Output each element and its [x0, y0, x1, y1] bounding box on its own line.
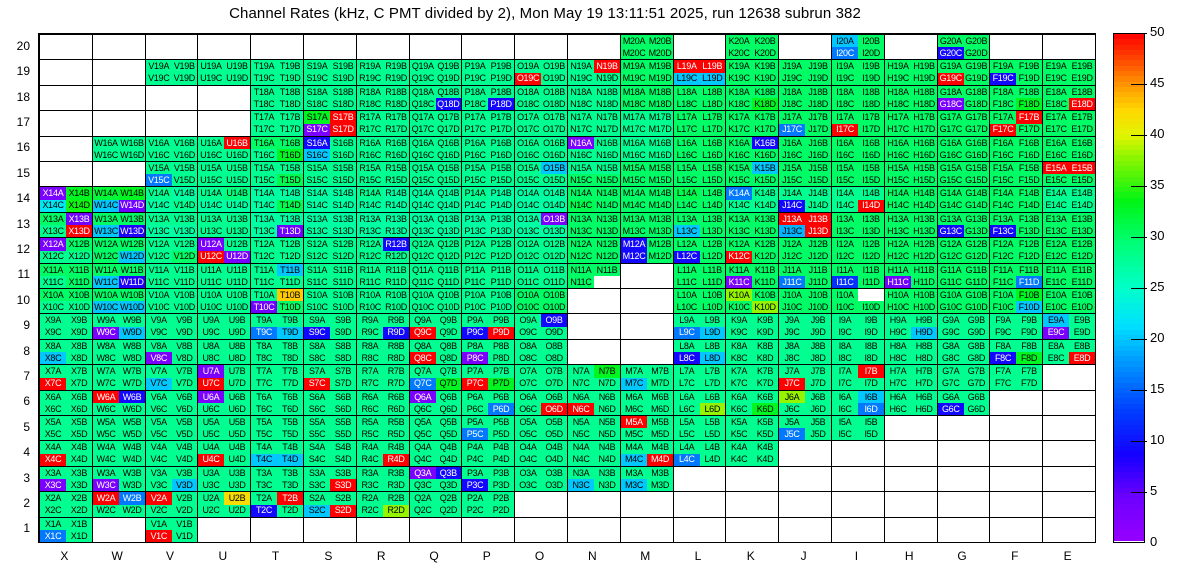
- channel-subcell[interactable]: O4B: [541, 441, 567, 454]
- channel-subcell[interactable]: W16A: [93, 137, 119, 149]
- channel-subcell[interactable]: L19B: [700, 60, 726, 73]
- channel-subcell[interactable]: T3A: [251, 467, 277, 479]
- channel-subcell[interactable]: Q12B: [436, 238, 462, 251]
- channel-subcell[interactable]: S9A: [304, 314, 330, 327]
- channel-subcell[interactable]: R14A: [357, 187, 383, 200]
- channel-subcell[interactable]: U2D: [224, 505, 250, 518]
- channel-subcell[interactable]: R5C: [357, 428, 383, 440]
- detector-cell[interactable]: R11AR11BR11CR11D: [357, 264, 409, 288]
- channel-subcell[interactable]: H10B: [911, 289, 937, 301]
- channel-subcell[interactable]: I19A: [832, 60, 858, 73]
- channel-subcell[interactable]: X9A: [40, 314, 66, 327]
- channel-subcell[interactable]: W12C: [93, 251, 119, 264]
- channel-subcell[interactable]: O17C: [515, 124, 541, 137]
- channel-subcell[interactable]: U7C: [198, 378, 224, 391]
- detector-cell[interactable]: R13AR13BR13CR13D: [357, 213, 409, 237]
- channel-subcell[interactable]: K18A: [726, 86, 752, 98]
- channel-subcell[interactable]: P2A: [462, 492, 488, 505]
- channel-subcell[interactable]: N7B: [594, 365, 620, 378]
- channel-subcell[interactable]: T16B: [277, 137, 303, 149]
- channel-subcell[interactable]: Q13A: [410, 213, 436, 225]
- channel-subcell[interactable]: S8C: [304, 352, 330, 364]
- channel-subcell[interactable]: G11A: [938, 264, 964, 276]
- detector-cell[interactable]: K11AK11BK11CK11D: [726, 264, 778, 288]
- channel-subcell[interactable]: T18D: [277, 98, 303, 110]
- channel-subcell[interactable]: H12C: [885, 251, 911, 264]
- detector-cell[interactable]: F16AF16BF16CF16D: [990, 137, 1042, 161]
- channel-subcell[interactable]: T2C: [251, 505, 277, 518]
- detector-cell[interactable]: J19AJ19BJ19CJ19D: [779, 60, 831, 85]
- channel-subcell[interactable]: X13C: [40, 225, 66, 237]
- channel-subcell[interactable]: Q14A: [410, 187, 436, 200]
- detector-cell[interactable]: S4AS4BS4CS4D: [304, 441, 356, 466]
- channel-subcell[interactable]: H17B: [911, 111, 937, 124]
- detector-cell[interactable]: Q5AQ5BQ5CQ5D: [410, 416, 461, 440]
- channel-subcell[interactable]: O17A: [515, 111, 541, 124]
- channel-subcell[interactable]: G16A: [938, 137, 964, 149]
- channel-subcell[interactable]: V11C: [146, 276, 172, 288]
- channel-subcell[interactable]: F13D: [1016, 225, 1042, 237]
- channel-subcell[interactable]: U15D: [224, 174, 250, 186]
- channel-subcell[interactable]: N3C: [568, 479, 594, 491]
- channel-subcell[interactable]: R16C: [357, 149, 383, 161]
- channel-subcell[interactable]: K15C: [726, 174, 752, 186]
- channel-subcell[interactable]: X10A: [40, 289, 66, 301]
- channel-subcell[interactable]: S14C: [304, 200, 330, 213]
- channel-subcell[interactable]: R13A: [357, 213, 383, 225]
- detector-cell[interactable]: K20AK20BK20CK20D: [726, 35, 778, 59]
- channel-subcell[interactable]: X14D: [66, 200, 92, 213]
- channel-subcell[interactable]: S18D: [330, 98, 356, 110]
- channel-subcell[interactable]: K19B: [752, 60, 778, 73]
- channel-subcell[interactable]: S2B: [330, 492, 356, 505]
- channel-subcell[interactable]: P15B: [488, 162, 514, 174]
- detector-cell[interactable]: R10AR10BR10CR10D: [357, 289, 409, 313]
- channel-subcell[interactable]: W9B: [119, 314, 145, 327]
- channel-subcell[interactable]: L13C: [674, 225, 700, 237]
- channel-subcell[interactable]: U14B: [224, 187, 250, 200]
- detector-cell[interactable]: S2AS2BS2CS2D: [304, 492, 356, 517]
- detector-cell[interactable]: V9AV9BV9CV9D: [146, 314, 197, 339]
- detector-cell[interactable]: L5AL5BL5CL5D: [674, 416, 725, 440]
- channel-subcell[interactable]: V12A: [146, 238, 172, 251]
- channel-subcell[interactable]: G18A: [938, 86, 964, 98]
- detector-cell[interactable]: G10AG10BG10CG10D: [938, 289, 989, 313]
- channel-subcell[interactable]: P19C: [462, 73, 488, 86]
- channel-subcell[interactable]: O3A: [515, 467, 541, 479]
- channel-subcell[interactable]: R5A: [357, 416, 383, 428]
- channel-subcell[interactable]: R4D: [383, 454, 409, 467]
- channel-subcell[interactable]: Q9B: [436, 314, 462, 327]
- channel-subcell[interactable]: P11D: [488, 276, 514, 288]
- channel-subcell[interactable]: I17A: [832, 111, 858, 124]
- channel-subcell[interactable]: S8D: [330, 352, 356, 364]
- channel-subcell[interactable]: E14B: [1069, 187, 1095, 200]
- channel-subcell[interactable]: Q11A: [410, 264, 436, 276]
- channel-subcell[interactable]: O3C: [515, 479, 541, 491]
- channel-subcell[interactable]: P2D: [488, 505, 514, 518]
- detector-cell[interactable]: W5AW5BW5CW5D: [93, 416, 145, 440]
- channel-subcell[interactable]: W10C: [93, 301, 119, 313]
- channel-subcell[interactable]: E13B: [1069, 213, 1095, 225]
- channel-subcell[interactable]: K11D: [752, 276, 778, 288]
- channel-subcell[interactable]: U13C: [198, 225, 224, 237]
- detector-cell[interactable]: G20AG20BG20CG20D: [938, 35, 989, 59]
- channel-subcell[interactable]: F14A: [990, 187, 1016, 200]
- channel-subcell[interactable]: U9D: [224, 327, 250, 340]
- detector-cell[interactable]: V10AV10BV10CV10D: [146, 289, 197, 313]
- channel-subcell[interactable]: R15B: [383, 162, 409, 174]
- channel-subcell[interactable]: S12C: [304, 251, 330, 264]
- detector-cell[interactable]: F13AF13BF13CF13D: [990, 213, 1042, 237]
- channel-subcell[interactable]: K5D: [752, 428, 778, 440]
- channel-subcell[interactable]: P18A: [462, 86, 488, 98]
- channel-subcell[interactable]: I7B: [858, 365, 884, 378]
- detector-cell[interactable]: L12AL12BL12CL12D: [674, 238, 725, 263]
- channel-subcell[interactable]: P9A: [462, 314, 488, 327]
- channel-subcell[interactable]: J18C: [779, 98, 805, 110]
- detector-cell[interactable]: N3AN3BN3CN3D: [568, 467, 620, 491]
- channel-subcell[interactable]: L7B: [700, 365, 726, 378]
- channel-subcell[interactable]: T3B: [277, 467, 303, 479]
- channel-subcell[interactable]: R11A: [357, 264, 383, 276]
- detector-cell[interactable]: U9AU9BU9CU9D: [198, 314, 250, 339]
- channel-subcell[interactable]: M18C: [621, 98, 647, 110]
- channel-subcell[interactable]: H17C: [885, 124, 911, 137]
- channel-subcell[interactable]: X7B: [66, 365, 92, 378]
- channel-subcell[interactable]: P4B: [488, 441, 514, 454]
- channel-subcell[interactable]: U4B: [224, 441, 250, 454]
- detector-cell[interactable]: O8AO8BO8CO8D: [515, 340, 567, 364]
- channel-subcell[interactable]: N4A: [568, 441, 594, 454]
- channel-subcell[interactable]: F19C: [990, 73, 1016, 86]
- channel-subcell[interactable]: J9A: [779, 314, 805, 327]
- channel-subcell[interactable]: N16D: [594, 149, 620, 161]
- channel-subcell[interactable]: K18B: [752, 86, 778, 98]
- channel-subcell[interactable]: S18A: [304, 86, 330, 98]
- detector-cell[interactable]: S16AS16BS16CS16D: [304, 137, 356, 161]
- detector-cell[interactable]: P8AP8BP8CP8D: [462, 340, 514, 364]
- detector-cell[interactable]: Q16AQ16BQ16CQ16D: [410, 137, 461, 161]
- channel-subcell[interactable]: M12A: [621, 238, 647, 251]
- detector-cell[interactable]: Q11AQ11BQ11CQ11D: [410, 264, 461, 288]
- detector-cell[interactable]: S15AS15BS15CS15D: [304, 162, 356, 186]
- detector-cell[interactable]: T18AT18BT18CT18D: [251, 86, 303, 110]
- channel-subcell[interactable]: M17B: [647, 111, 673, 124]
- channel-subcell[interactable]: Q14B: [436, 187, 462, 200]
- detector-cell[interactable]: J11AJ11BJ11CJ11D: [779, 264, 831, 288]
- detector-cell[interactable]: T5AT5BT5CT5D: [251, 416, 303, 440]
- channel-subcell[interactable]: N4C: [568, 454, 594, 467]
- channel-subcell[interactable]: M16B: [647, 137, 673, 149]
- channel-subcell[interactable]: X10C: [40, 301, 66, 313]
- channel-subcell[interactable]: Q2D: [436, 505, 462, 518]
- channel-subcell[interactable]: T6D: [277, 403, 303, 415]
- channel-subcell[interactable]: P2B: [488, 492, 514, 505]
- channel-subcell[interactable]: Q2C: [410, 505, 436, 518]
- channel-subcell[interactable]: U11B: [224, 264, 250, 276]
- channel-subcell[interactable]: V5A: [146, 416, 172, 428]
- channel-subcell[interactable]: N5B: [594, 416, 620, 428]
- channel-subcell[interactable]: H19B: [911, 60, 937, 73]
- channel-subcell[interactable]: R9D: [383, 327, 409, 340]
- detector-cell[interactable]: I5AI5BI5CI5D: [832, 416, 884, 440]
- channel-subcell[interactable]: P17B: [488, 111, 514, 124]
- channel-subcell[interactable]: L17B: [700, 111, 726, 124]
- detector-cell[interactable]: W3AW3BW3CW3D: [93, 467, 145, 491]
- detector-cell[interactable]: M6AM6BM6CM6D: [621, 391, 673, 415]
- detector-cell[interactable]: O9AO9BO9CO9D: [515, 314, 567, 339]
- channel-subcell[interactable]: S7C: [304, 378, 330, 391]
- detector-cell[interactable]: V13AV13BV13CV13D: [146, 213, 197, 237]
- channel-subcell[interactable]: J8D: [805, 352, 831, 364]
- channel-subcell[interactable]: T8D: [277, 352, 303, 364]
- detector-cell[interactable]: U8AU8BU8CU8D: [198, 340, 250, 364]
- channel-subcell[interactable]: M7B: [647, 365, 673, 378]
- channel-subcell[interactable]: O4D: [541, 454, 567, 467]
- detector-cell[interactable]: M13AM13BM13CM13D: [621, 213, 673, 237]
- channel-subcell[interactable]: N15D: [594, 174, 620, 186]
- channel-subcell[interactable]: R5B: [383, 416, 409, 428]
- channel-subcell[interactable]: Q17C: [410, 124, 436, 137]
- detector-cell[interactable]: X9AX9BX9CX9D: [40, 314, 92, 339]
- channel-subcell[interactable]: N17B: [594, 111, 620, 124]
- channel-subcell[interactable]: S16B: [330, 137, 356, 149]
- channel-subcell[interactable]: P5C: [462, 428, 488, 440]
- channel-subcell[interactable]: H7D: [911, 378, 937, 391]
- channel-subcell[interactable]: T7C: [251, 378, 277, 391]
- channel-subcell[interactable]: W3D: [119, 479, 145, 491]
- channel-subcell[interactable]: T15C: [251, 174, 277, 186]
- channel-subcell[interactable]: P9C: [462, 327, 488, 340]
- channel-subcell[interactable]: O8A: [515, 340, 541, 352]
- detector-cell[interactable]: X2AX2BX2CX2D: [40, 492, 92, 517]
- channel-subcell[interactable]: T11D: [277, 276, 303, 288]
- channel-subcell[interactable]: L9C: [674, 327, 700, 340]
- channel-subcell[interactable]: W13C: [93, 225, 119, 237]
- channel-subcell[interactable]: P18B: [488, 86, 514, 98]
- channel-subcell[interactable]: I18B: [858, 86, 884, 98]
- channel-subcell[interactable]: U12A: [198, 238, 224, 251]
- channel-subcell[interactable]: Q13C: [410, 225, 436, 237]
- channel-subcell[interactable]: K7C: [726, 378, 752, 391]
- channel-subcell[interactable]: H7A: [885, 365, 911, 378]
- channel-subcell[interactable]: U8C: [198, 352, 224, 364]
- detector-cell[interactable]: K18AK18BK18CK18D: [726, 86, 778, 110]
- channel-subcell[interactable]: P19A: [462, 60, 488, 73]
- channel-subcell[interactable]: J12D: [805, 251, 831, 264]
- channel-subcell[interactable]: M19C: [621, 73, 647, 86]
- channel-subcell[interactable]: X4C: [40, 454, 66, 467]
- detector-cell[interactable]: W14AW14BW14CW14D: [93, 187, 145, 212]
- detector-cell[interactable]: G19AG19BG19CG19D: [938, 60, 989, 85]
- channel-subcell[interactable]: F14C: [990, 200, 1016, 213]
- channel-subcell[interactable]: X14A: [40, 187, 66, 200]
- channel-subcell[interactable]: S10B: [330, 289, 356, 301]
- channel-subcell[interactable]: X11C: [40, 276, 66, 288]
- channel-subcell[interactable]: U9C: [198, 327, 224, 340]
- channel-subcell[interactable]: G18B: [964, 86, 990, 98]
- detector-cell[interactable]: W9AW9BW9CW9D: [93, 314, 145, 339]
- channel-subcell[interactable]: L8C: [674, 352, 700, 364]
- channel-subcell[interactable]: X1B: [66, 518, 92, 530]
- channel-subcell[interactable]: X7D: [66, 378, 92, 391]
- channel-subcell[interactable]: E16C: [1043, 149, 1069, 161]
- detector-cell[interactable]: W11AW11BW11CW11D: [93, 264, 145, 288]
- detector-cell[interactable]: E13AE13BE13CE13D: [1043, 213, 1095, 237]
- channel-subcell[interactable]: N14C: [568, 200, 594, 213]
- detector-cell[interactable]: P12AP12BP12CP12D: [462, 238, 514, 263]
- channel-subcell[interactable]: I19C: [832, 73, 858, 86]
- channel-subcell[interactable]: G10B: [964, 289, 990, 301]
- channel-subcell[interactable]: J19B: [805, 60, 831, 73]
- channel-subcell[interactable]: V16C: [146, 149, 172, 161]
- detector-cell[interactable]: X8AX8BX8CX8D: [40, 340, 92, 364]
- channel-subcell[interactable]: O5A: [515, 416, 541, 428]
- channel-subcell[interactable]: P13B: [488, 213, 514, 225]
- channel-subcell[interactable]: S16D: [330, 149, 356, 161]
- channel-subcell[interactable]: L5C: [674, 428, 700, 440]
- channel-subcell[interactable]: M7D: [647, 378, 673, 391]
- channel-subcell[interactable]: R10B: [383, 289, 409, 301]
- channel-subcell[interactable]: K7A: [726, 365, 752, 378]
- channel-subcell[interactable]: H17D: [911, 124, 937, 137]
- detector-cell[interactable]: K8AK8BK8CK8D: [726, 340, 778, 364]
- channel-subcell[interactable]: M19A: [621, 60, 647, 73]
- detector-cell[interactable]: T11AT11BT11CT11D: [251, 264, 303, 288]
- detector-cell[interactable]: T10AT10BT10CT10D: [251, 289, 303, 313]
- channel-subcell[interactable]: X5A: [40, 416, 66, 428]
- channel-subcell[interactable]: Q15B: [436, 162, 462, 174]
- channel-subcell[interactable]: I16A: [832, 137, 858, 149]
- channel-subcell[interactable]: X13A: [40, 213, 66, 225]
- channel-subcell[interactable]: L13B: [700, 213, 726, 225]
- channel-subcell[interactable]: Q4B: [436, 441, 462, 454]
- channel-subcell[interactable]: R7B: [383, 365, 409, 378]
- detector-cell[interactable]: N16AN16BN16CN16D: [568, 137, 620, 161]
- channel-subcell[interactable]: T13D: [277, 225, 303, 237]
- detector-cell[interactable]: R18AR18BR18CR18D: [357, 86, 409, 110]
- detector-cell[interactable]: M20AM20BM20CM20D: [621, 35, 673, 59]
- channel-subcell[interactable]: L16C: [674, 149, 700, 161]
- channel-subcell[interactable]: S7B: [330, 365, 356, 378]
- channel-subcell[interactable]: W11D: [119, 276, 145, 288]
- channel-subcell[interactable]: G19A: [938, 60, 964, 73]
- channel-subcell[interactable]: M15C: [621, 174, 647, 186]
- channel-subcell[interactable]: L10A: [674, 289, 700, 301]
- channel-subcell[interactable]: G6D: [964, 403, 990, 415]
- detector-cell[interactable]: L17AL17BL17CL17D: [674, 111, 725, 136]
- channel-subcell[interactable]: H18A: [885, 86, 911, 98]
- detector-cell[interactable]: H6AH6BH6CH6D: [885, 391, 937, 415]
- channel-subcell[interactable]: V1B: [172, 518, 198, 530]
- channel-subcell[interactable]: N6B: [594, 391, 620, 403]
- channel-subcell[interactable]: I10C: [832, 301, 858, 313]
- channel-subcell[interactable]: N4D: [594, 454, 620, 467]
- detector-cell[interactable]: J7AJ7BJ7CJ7D: [779, 365, 831, 390]
- channel-subcell[interactable]: J11C: [779, 276, 805, 288]
- channel-subcell[interactable]: J18B: [805, 86, 831, 98]
- channel-subcell[interactable]: S5C: [304, 428, 330, 440]
- channel-subcell[interactable]: H9A: [885, 314, 911, 327]
- channel-subcell[interactable]: S14D: [330, 200, 356, 213]
- channel-subcell[interactable]: T5D: [277, 428, 303, 440]
- detector-cell[interactable]: T16AT16BT16CT16D: [251, 137, 303, 161]
- detector-cell[interactable]: H10AH10BH10CH10D: [885, 289, 937, 313]
- channel-subcell[interactable]: Q6B: [436, 391, 462, 403]
- channel-subcell[interactable]: P14C: [462, 200, 488, 213]
- channel-subcell[interactable]: H14D: [911, 200, 937, 213]
- detector-cell[interactable]: Q12AQ12BQ12CQ12D: [410, 238, 461, 263]
- channel-subcell[interactable]: G15B: [964, 162, 990, 174]
- channel-subcell[interactable]: O10C: [515, 301, 541, 313]
- channel-subcell[interactable]: K18C: [726, 98, 752, 110]
- channel-subcell[interactable]: N5D: [594, 428, 620, 440]
- channel-subcell[interactable]: N17D: [594, 124, 620, 137]
- channel-subcell[interactable]: V16D: [172, 149, 198, 161]
- channel-subcell[interactable]: L15B: [700, 162, 726, 174]
- detector-cell[interactable]: Q7AQ7BQ7CQ7D: [410, 365, 461, 390]
- detector-cell[interactable]: F17AF17BF17CF17D: [990, 111, 1042, 136]
- channel-subcell[interactable]: Q15C: [410, 174, 436, 186]
- channel-subcell[interactable]: T11A: [251, 264, 277, 276]
- channel-subcell[interactable]: U16D: [224, 149, 250, 161]
- channel-subcell[interactable]: Q5D: [436, 428, 462, 440]
- channel-subcell[interactable]: F16D: [1016, 149, 1042, 161]
- channel-subcell[interactable]: S17B: [330, 111, 356, 124]
- channel-subcell[interactable]: R8C: [357, 352, 383, 364]
- channel-subcell[interactable]: T12B: [277, 238, 303, 251]
- channel-subcell[interactable]: E19A: [1043, 60, 1069, 73]
- channel-subcell[interactable]: T8C: [251, 352, 277, 364]
- channel-subcell[interactable]: O14A: [515, 187, 541, 200]
- detector-cell[interactable]: M18AM18BM18CM18D: [621, 86, 673, 110]
- channel-subcell[interactable]: J14B: [805, 187, 831, 200]
- channel-subcell[interactable]: U9A: [198, 314, 224, 327]
- channel-subcell[interactable]: Q5B: [436, 416, 462, 428]
- channel-subcell[interactable]: I17D: [858, 124, 884, 137]
- channel-subcell[interactable]: H6B: [911, 391, 937, 403]
- channel-subcell[interactable]: N11A: [568, 264, 594, 276]
- channel-subcell[interactable]: G13A: [938, 213, 964, 225]
- detector-cell[interactable]: F14AF14BF14CF14D: [990, 187, 1042, 212]
- channel-subcell[interactable]: X9D: [66, 327, 92, 340]
- channel-subcell[interactable]: U12C: [198, 251, 224, 264]
- channel-subcell[interactable]: V10A: [146, 289, 172, 301]
- channel-subcell[interactable]: L8A: [674, 340, 700, 352]
- channel-subcell[interactable]: N12B: [594, 238, 620, 251]
- channel-subcell[interactable]: J7A: [779, 365, 805, 378]
- channel-subcell[interactable]: Q6A: [410, 391, 436, 403]
- channel-subcell[interactable]: W6C: [93, 403, 119, 415]
- channel-subcell[interactable]: O16A: [515, 137, 541, 149]
- channel-subcell[interactable]: U14C: [198, 200, 224, 213]
- channel-subcell[interactable]: F13B: [1016, 213, 1042, 225]
- detector-cell[interactable]: V1AV1BV1CV1D: [146, 518, 197, 542]
- detector-cell[interactable]: H15AH15BH15CH15D: [885, 162, 937, 186]
- channel-subcell[interactable]: Q4D: [436, 454, 462, 467]
- detector-cell[interactable]: L10AL10BL10CL10D: [674, 289, 725, 313]
- channel-subcell[interactable]: W14A: [93, 187, 119, 200]
- channel-subcell[interactable]: W6B: [119, 391, 145, 403]
- channel-subcell[interactable]: H11D: [911, 276, 937, 288]
- channel-subcell[interactable]: U13B: [224, 213, 250, 225]
- channel-subcell[interactable]: I17C: [832, 124, 858, 137]
- channel-subcell[interactable]: H15B: [911, 162, 937, 174]
- detector-cell[interactable]: V8AV8BV8CV8D: [146, 340, 197, 364]
- channel-subcell[interactable]: G11B: [964, 264, 990, 276]
- channel-subcell[interactable]: Q17B: [436, 111, 462, 124]
